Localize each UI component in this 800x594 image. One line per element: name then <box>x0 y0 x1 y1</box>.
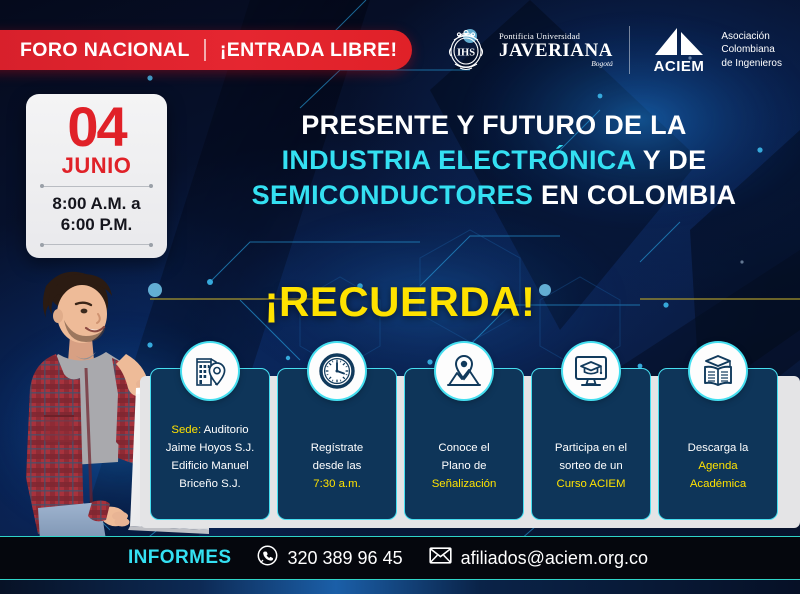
card1-line1-hl: Sede: <box>171 424 201 436</box>
card2-line1: Regístrate <box>311 439 364 457</box>
info-cards-row: Sede: Auditorio Jaime Hoyos S.J. Edifici… <box>150 368 778 520</box>
card3-line2: Plano de <box>432 457 497 475</box>
aciem-line1: Asociación <box>721 30 782 44</box>
foro-banner: FORO NACIONAL ¡ENTRADA LIBRE! <box>0 30 412 70</box>
footer-region: INFORMES 320 389 96 45 <box>0 536 800 594</box>
info-card-sorteo[interactable]: Participa en el sorteo de un Curso ACIEM <box>531 368 651 520</box>
date-day: 04 <box>67 100 125 155</box>
aciem-line3: de Ingenieros <box>721 57 782 71</box>
title-line-2-rest: Y DE <box>635 145 706 175</box>
card-text-sorteo: Participa en el sorteo de un Curso ACIEM <box>555 439 627 493</box>
javeriana-line2: JAVERIANA <box>499 41 613 61</box>
date-divider-top <box>41 186 152 187</box>
javeriana-line3: Bogotá <box>499 60 613 68</box>
envelope-icon <box>429 546 452 570</box>
clock-icon <box>309 343 365 399</box>
title-line-1: PRESENTE Y FUTURO DE LA <box>196 108 792 143</box>
svg-text:ACIEM: ACIEM <box>654 58 705 74</box>
card2-line2: desde las <box>311 457 364 475</box>
card-text-plano: Conoce el Plano de Señalización <box>432 439 497 493</box>
card5-line1: Descarga la <box>688 439 749 457</box>
title-line-3: SEMICONDUCTORES EN COLOMBIA <box>196 178 792 213</box>
informes-label: INFORMES <box>128 547 231 569</box>
card-text-sede: Sede: Auditorio Jaime Hoyos S.J. Edifici… <box>166 421 255 493</box>
card2-line3: 7:30 a.m. <box>311 475 364 493</box>
title-line-3-rest: EN COLOMBIA <box>533 180 736 210</box>
date-time-line1: 8:00 A.M. a <box>52 193 140 214</box>
date-divider-bottom <box>41 244 152 245</box>
contact-bar: INFORMES 320 389 96 45 <box>0 536 800 580</box>
event-date-card: 04 JUNIO 8:00 A.M. a 6:00 P.M. <box>26 94 167 258</box>
book-graduation-cap-icon <box>690 343 746 399</box>
map-location-icon <box>436 343 492 399</box>
footer-bottom-strip <box>0 580 800 594</box>
aciem-sail-icon: ACIEM <box>646 26 712 74</box>
phone-number: 320 389 96 45 <box>287 548 402 569</box>
card4-line2: sorteo de un <box>555 457 627 475</box>
banner-separator <box>204 39 206 61</box>
card-text-agenda: Descarga la Agenda Académica <box>688 439 749 493</box>
banner-right-label: ¡ENTRADA LIBRE! <box>220 39 398 62</box>
title-line-2-highlight: INDUSTRIA ELECTRÓNICA <box>282 145 636 175</box>
javeriana-seal-icon: IHS <box>442 26 490 74</box>
card4-line1: Participa en el <box>555 439 627 457</box>
logo-divider <box>629 26 631 74</box>
info-card-plano[interactable]: Conoce el Plano de Señalización <box>404 368 524 520</box>
email-address: afiliados@aciem.org.co <box>461 548 648 569</box>
email-contact[interactable]: afiliados@aciem.org.co <box>429 546 648 570</box>
card5-line2: Agenda <box>688 457 749 475</box>
card3-line3: Señalización <box>432 475 497 493</box>
title-line-2: INDUSTRIA ELECTRÓNICA Y DE <box>196 143 792 178</box>
card5-line3: Académica <box>688 475 749 493</box>
event-title: PRESENTE Y FUTURO DE LA INDUSTRIA ELECTR… <box>196 108 792 213</box>
svg-text:IHS: IHS <box>457 48 475 59</box>
card1-line1-rest: Auditorio <box>201 424 249 436</box>
javeriana-logo: IHS Pontificia Universidad JAVERIANA Bog… <box>442 26 613 74</box>
poster-canvas: FORO NACIONAL ¡ENTRADA LIBRE! <box>0 0 800 594</box>
card-text-registro: Regístrate desde las 7:30 a.m. <box>311 439 364 493</box>
card1-line4: Briceño S.J. <box>166 475 255 493</box>
building-location-pin-icon <box>182 343 238 399</box>
monitor-graduation-cap-icon <box>563 343 619 399</box>
logo-row: IHS Pontificia Universidad JAVERIANA Bog… <box>442 26 782 74</box>
whatsapp-icon <box>257 545 278 571</box>
card3-line1: Conoce el <box>432 439 497 457</box>
info-card-sede[interactable]: Sede: Auditorio Jaime Hoyos S.J. Edifici… <box>150 368 270 520</box>
info-card-registro[interactable]: Regístrate desde las 7:30 a.m. <box>277 368 397 520</box>
card1-line3: Edificio Manuel <box>166 457 255 475</box>
date-month: JUNIO <box>62 153 132 179</box>
title-line-3-highlight: SEMICONDUCTORES <box>252 180 534 210</box>
card4-line3: Curso ACIEM <box>555 475 627 493</box>
card1-line2: Jaime Hoyos S.J. <box>166 439 255 457</box>
phone-contact[interactable]: 320 389 96 45 <box>257 545 402 571</box>
banner-left-label: FORO NACIONAL <box>20 39 190 62</box>
info-card-agenda[interactable]: Descarga la Agenda Académica <box>658 368 778 520</box>
aciem-logo: ACIEM Asociación Colombiana de Ingeniero… <box>646 26 782 74</box>
aciem-line2: Colombiana <box>721 43 782 57</box>
date-time-line2: 6:00 P.M. <box>52 214 140 235</box>
